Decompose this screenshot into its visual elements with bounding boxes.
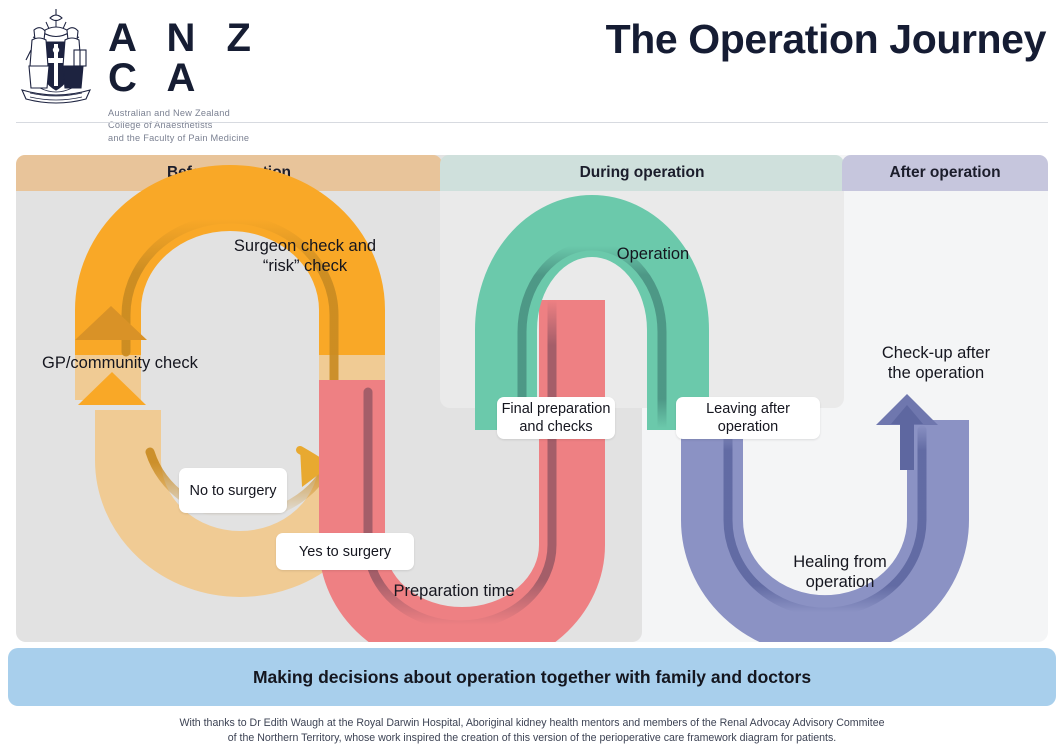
phase-label-during: During operation xyxy=(580,164,705,182)
chip-no-to-surgery-label: No to surgery xyxy=(189,482,276,500)
chip-leaving-after-operation: Leaving after operation xyxy=(676,397,820,439)
chip-final-line1: Final preparation xyxy=(502,400,611,418)
page-title: The Operation Journey xyxy=(606,16,1046,63)
anzca-wordmark: A N Z C A Australian and New Zealand Col… xyxy=(108,18,268,144)
chip-no-to-surgery: No to surgery xyxy=(179,468,287,513)
shared-decision-banner: Making decisions about operation togethe… xyxy=(8,648,1056,706)
page-header: A N Z C A Australian and New Zealand Col… xyxy=(0,0,1064,122)
label-preparation-time: Preparation time xyxy=(352,581,556,601)
phase-label-after: After operation xyxy=(889,164,1000,182)
label-checkup-line1: Check-up after xyxy=(836,343,1036,363)
label-surgeon-check: Surgeon check and “risk” check xyxy=(155,236,455,276)
label-healing: Healing from operation xyxy=(740,552,940,592)
label-operation: Operation xyxy=(553,244,753,264)
label-surgeon-line1: Surgeon check and xyxy=(155,236,455,256)
footer-line2: of the Northern Territory, whose work in… xyxy=(0,731,1064,746)
anzca-logo: A N Z C A Australian and New Zealand Col… xyxy=(8,6,268,110)
infographic-page: A N Z C A Australian and New Zealand Col… xyxy=(0,0,1064,750)
anzca-coat-of-arms-icon xyxy=(12,6,100,106)
phase-header-after: After operation xyxy=(842,155,1048,191)
anzca-brand-text: A N Z C A xyxy=(108,18,268,98)
chip-leave-line2: operation xyxy=(706,418,790,436)
anzca-subtitle-line1: Australian and New Zealand xyxy=(108,107,268,119)
phase-header-during: During operation xyxy=(440,155,844,191)
label-healing-line2: operation xyxy=(740,572,940,592)
label-healing-line1: Healing from xyxy=(740,552,940,572)
chip-leave-line1: Leaving after xyxy=(706,400,790,418)
header-divider xyxy=(16,122,1048,123)
label-checkup-line2: the operation xyxy=(836,363,1036,383)
phase-header-before: Before operation xyxy=(16,155,442,191)
chip-yes-to-surgery: Yes to surgery xyxy=(276,533,414,570)
acknowledgement-footer: With thanks to Dr Edith Waugh at the Roy… xyxy=(0,716,1064,745)
phase-label-before: Before operation xyxy=(167,164,291,182)
anzca-subtitle-line3: and the Faculty of Pain Medicine xyxy=(108,132,268,144)
label-checkup: Check-up after the operation xyxy=(836,343,1036,383)
chip-final-line2: and checks xyxy=(502,418,611,436)
shared-decision-banner-label: Making decisions about operation togethe… xyxy=(253,667,811,688)
label-surgeon-line2: “risk” check xyxy=(155,256,455,276)
chip-final-preparation: Final preparation and checks xyxy=(497,397,615,439)
during-operation-panel xyxy=(440,155,844,408)
label-gp-community-check: GP/community check xyxy=(42,353,198,373)
footer-line1: With thanks to Dr Edith Waugh at the Roy… xyxy=(0,716,1064,731)
chip-yes-to-surgery-label: Yes to surgery xyxy=(299,543,391,561)
anzca-subtitle: Australian and New Zealand College of An… xyxy=(108,107,268,144)
